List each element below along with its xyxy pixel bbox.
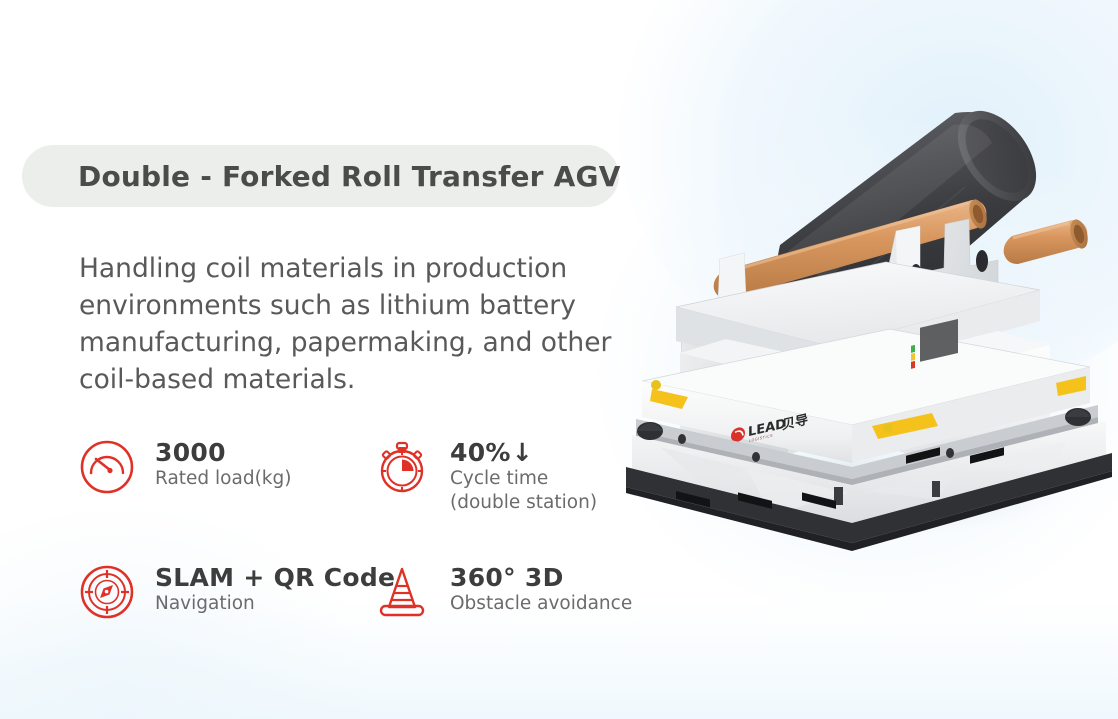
feature-value: SLAM + QR Code: [155, 563, 396, 592]
skirt-vent-right: [932, 481, 940, 497]
feature-value-text: SLAM + QR Code: [155, 563, 395, 592]
feature-cycle-time: 40% ↓ Cycle time (double station): [374, 437, 659, 562]
feature-arrow-down-icon: ↓: [512, 438, 533, 467]
bumper-sensor-a: [678, 434, 686, 444]
product-description: Handling coil materials in production en…: [79, 250, 654, 398]
feature-rated-load: 3000 Rated load(kg): [79, 437, 374, 562]
compass-icon: [79, 564, 135, 620]
feature-value: 40% ↓: [450, 438, 597, 467]
page-title: Double - Forked Roll Transfer AGV: [78, 160, 621, 193]
feature-grid: 3000 Rated load(kg): [79, 437, 659, 620]
feature-navigation: SLAM + QR Code Navigation: [79, 562, 374, 620]
coil-core-front: [1004, 217, 1091, 264]
feature-value-text: 3000: [155, 438, 226, 467]
feature-value: 3000: [155, 438, 291, 467]
fork-sensor-right: [976, 250, 988, 272]
title-pill: Double - Forked Roll Transfer AGV: [22, 145, 619, 207]
feature-value-text: 360° 3D: [450, 563, 564, 592]
emergency-stop-right: [883, 423, 893, 433]
traffic-cone-icon: [374, 564, 430, 620]
feature-value-text: 40%: [450, 438, 511, 467]
product-slide: LEAD 贝导 LOGISTICS: [0, 0, 1118, 719]
bumper-sensor-b: [752, 452, 760, 462]
feature-obstacle-avoidance: 360° 3D Obstacle avoidance: [374, 562, 659, 620]
product-image: LEAD 贝导 LOGISTICS: [620, 95, 1118, 565]
indicator-green: [911, 345, 915, 353]
feature-label-line-1: Obstacle avoidance: [450, 592, 632, 616]
feature-label-line-2: (double station): [450, 491, 597, 515]
indicator-yellow: [911, 353, 915, 361]
feature-value: 360° 3D: [450, 563, 632, 592]
feature-label-line-1: Rated load(kg): [155, 467, 291, 491]
stopwatch-icon: [374, 439, 430, 495]
bumper-sensor-c: [946, 448, 954, 458]
gauge-icon: [79, 439, 135, 495]
feature-label-line-1: Cycle time: [450, 467, 597, 491]
feature-label-line-1: Navigation: [155, 592, 396, 616]
indicator-red: [911, 361, 915, 369]
